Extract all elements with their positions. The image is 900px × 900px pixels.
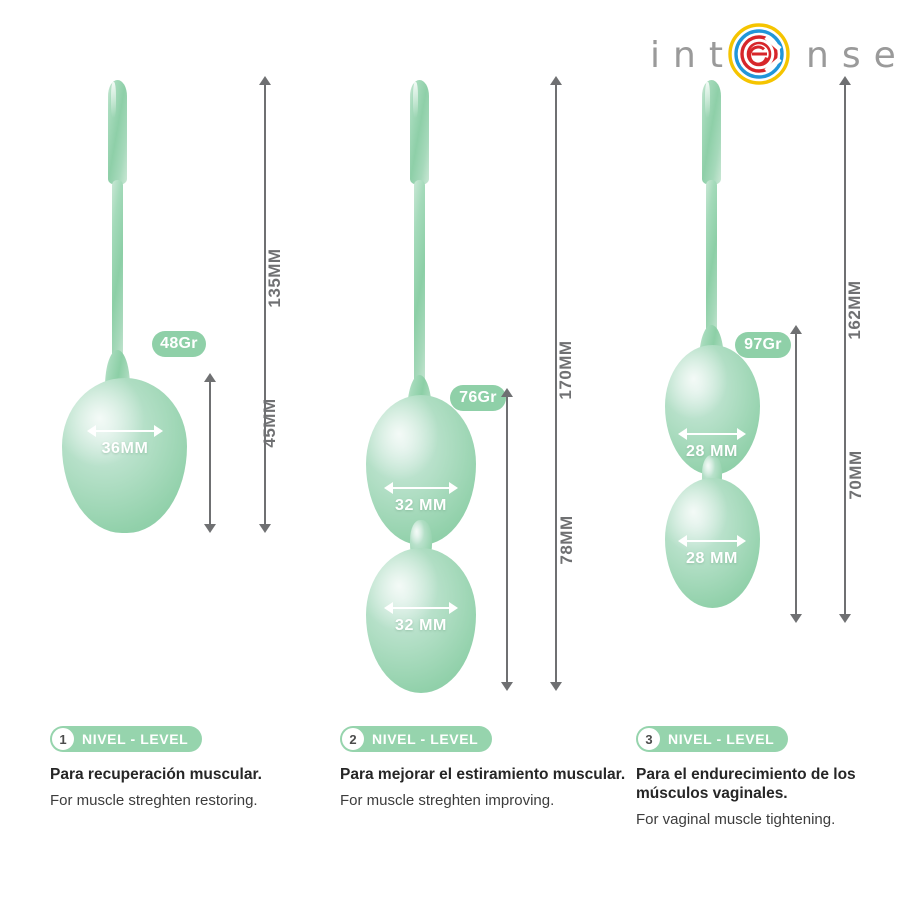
level-card-2: 2 NIVEL - LEVEL Para mejorar el estirami… (340, 726, 630, 811)
product-2-upper-width-callout: 32 MM (371, 482, 471, 515)
product-3-weight-badge: 97Gr (735, 332, 791, 358)
level-number-2: 2 (342, 728, 364, 750)
level-label-2: NIVEL - LEVEL (372, 731, 478, 747)
product-1-weight-badge: 48Gr (152, 331, 206, 357)
width-arrow-icon (87, 425, 163, 437)
product-1-weight-value: 48Gr (160, 335, 198, 353)
level-title-es-1: Para recuperación muscular. (50, 766, 340, 785)
product-level-3: 28 MM 28 MM 97Gr 70MM 162MM (580, 0, 880, 720)
product-1-width-value: 36MM (75, 440, 175, 458)
width-arrow-icon (678, 535, 746, 547)
product-3-upper-width-value: 28 MM (662, 443, 762, 461)
product-3-cord (706, 180, 717, 345)
width-arrow-icon (384, 482, 458, 494)
product-2-weight-badge: 76Gr (450, 385, 506, 411)
level-badge-2: 2 NIVEL - LEVEL (340, 726, 492, 752)
product-3-lower-width-value: 28 MM (662, 550, 762, 568)
product-3-body-length-arrow (789, 325, 803, 623)
level-label-3: NIVEL - LEVEL (668, 731, 774, 747)
product-2-stem (410, 80, 429, 185)
product-2-cord (414, 180, 425, 395)
level-card-1: 1 NIVEL - LEVEL Para recuperación muscul… (50, 726, 340, 811)
level-card-3: 3 NIVEL - LEVEL Para el endurecimiento d… (636, 726, 876, 830)
product-2-upper-width-value: 32 MM (371, 497, 471, 515)
product-level-1: 36MM 48Gr 45MM 135MM (0, 0, 300, 720)
product-2-total-length-label: 170MM (556, 325, 576, 415)
product-2-lower-width-value: 32 MM (371, 617, 471, 635)
product-3-upper-width-callout: 28 MM (662, 428, 762, 461)
level-badge-1: 1 NIVEL - LEVEL (50, 726, 202, 752)
level-title-es-2: Para mejorar el estiramiento muscular. (340, 766, 630, 785)
level-number-3: 3 (638, 728, 660, 750)
product-1-stem (108, 80, 127, 185)
product-2-lower-width-callout: 32 MM (371, 602, 471, 635)
product-2-body-length-arrow (500, 388, 514, 691)
level-title-en-2: For muscle streghten improving. (340, 792, 630, 811)
level-title-es-3: Para el endurecimiento de los músculos v… (636, 766, 876, 804)
product-3-stem (702, 80, 721, 185)
product-2-weight-value: 76Gr (459, 389, 497, 407)
level-title-en-1: For muscle streghten restoring. (50, 792, 340, 811)
product-3-total-length-label: 162MM (845, 265, 865, 355)
level-number-1: 1 (52, 728, 74, 750)
level-title-en-3: For vaginal muscle tightening. (636, 811, 876, 830)
level-badge-3: 3 NIVEL - LEVEL (636, 726, 788, 752)
width-arrow-icon (678, 428, 746, 440)
product-1-total-length-label: 135MM (265, 233, 285, 323)
width-arrow-icon (384, 602, 458, 614)
product-1-body-length-arrow (203, 373, 217, 533)
product-3-weight-value: 97Gr (744, 336, 782, 354)
product-level-2: 32 MM 32 MM 76Gr 78MM 170MM (290, 0, 590, 720)
product-1-width-callout: 36MM (75, 425, 175, 458)
product-3-lower-width-callout: 28 MM (662, 535, 762, 568)
infographic-canvas: intoonse 36MM 48Gr (0, 0, 900, 900)
product-1-cord (112, 180, 123, 370)
level-label-1: NIVEL - LEVEL (82, 731, 188, 747)
